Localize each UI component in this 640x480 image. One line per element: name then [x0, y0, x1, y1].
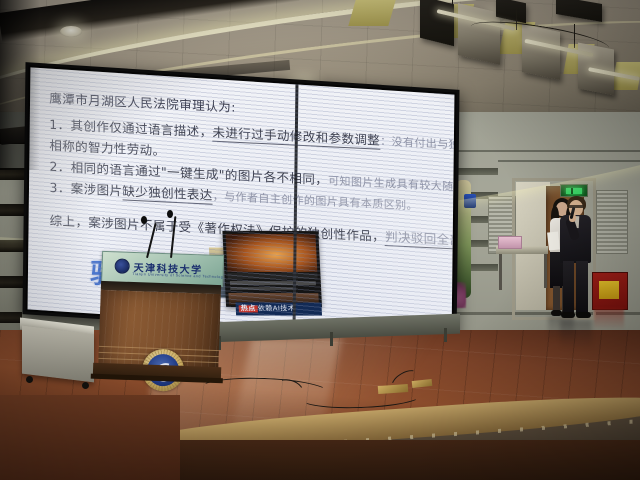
pink-storage-box [498, 236, 522, 249]
shoe [576, 312, 591, 318]
conclusion-lead: 综上，案涉图片不属于受《著作权法》保护的独创性作品， [50, 213, 385, 244]
point-emphasis: 缺少独创性表达 [122, 183, 212, 204]
desk-leg [499, 254, 502, 290]
university-name-en: Tianjin University of Science and Techno… [132, 272, 224, 279]
papers-held [547, 231, 560, 250]
thumb-toolbar [227, 273, 317, 279]
point-tail: ：没有付出与独创性相 [380, 135, 454, 154]
ceiling-yellow-panel [348, 0, 395, 26]
wall-louver-vent [596, 190, 628, 254]
image-shadow-left [0, 0, 40, 170]
fire-cabinet-label [599, 281, 619, 299]
led-video-wall[interactable]: 鹰潭市月湖区人民法院审理认为: 1．其创作仅通过语言描述，未进行过手动修改和参数… [22, 62, 459, 342]
caption-highlight: 热点 [239, 305, 258, 312]
cart-wheel [26, 376, 33, 383]
ai-generated-image [226, 234, 318, 272]
fire-cabinet-reflection [594, 308, 624, 330]
conclusion-tail: 判决驳回全部诉讼请求。 [385, 229, 454, 253]
point-number: 3． [49, 179, 70, 195]
equipment-cart[interactable] [22, 326, 94, 383]
university-seal-icon [114, 258, 130, 274]
point-text: 其创作仅通过语言描述， [71, 118, 213, 140]
point-number: 1． [49, 117, 70, 133]
point-text: 案涉图片 [71, 180, 123, 198]
lecture-hall-photo: 鹰潭市月湖区人民法院审理认为: 1．其创作仅通过语言描述，未进行过手动修改和参数… [0, 0, 640, 480]
caption-text: 依赖AI技术 [258, 305, 296, 312]
foreground-floor-left [0, 395, 180, 480]
case-evidence-screenshot [222, 231, 322, 307]
point-text: 相称的智力性劳动。 [49, 138, 165, 159]
riser-leg [330, 332, 333, 346]
recessed-downlight [60, 26, 82, 37]
presenter-with-microphone [560, 196, 592, 324]
point-tail: ，与作者自主创作的图片具有本质区别。 [213, 189, 418, 212]
legs [553, 286, 560, 312]
point-number: 2． [49, 159, 70, 175]
exit-running-man-icon [566, 188, 582, 194]
lectern-body [98, 290, 221, 370]
thumb-text-line [230, 281, 316, 285]
lectern[interactable]: 天津科技大学 Tianjin University of Science and… [96, 251, 224, 380]
desk-leg [544, 254, 547, 288]
cart-wheel [82, 382, 89, 389]
suit-trousers [563, 261, 574, 315]
suit-trousers [576, 261, 588, 315]
shoe [561, 312, 575, 318]
riser-leg [444, 328, 447, 342]
thumbnail-caption: 热点依赖AI技术 [235, 302, 322, 315]
slide-content: 鹰潭市月湖区人民法院审理认为: 1．其创作仅通过语言描述，未进行过手动修改和参数… [49, 88, 442, 248]
thumb-text-line [230, 287, 296, 290]
screen-surface: 鹰潭市月湖区人民法院审理认为: 1．其创作仅通过语言描述，未进行过手动修改和参数… [28, 67, 455, 336]
presenter-reflection [560, 320, 592, 350]
fire-equipment-cabinet[interactable] [592, 272, 628, 310]
